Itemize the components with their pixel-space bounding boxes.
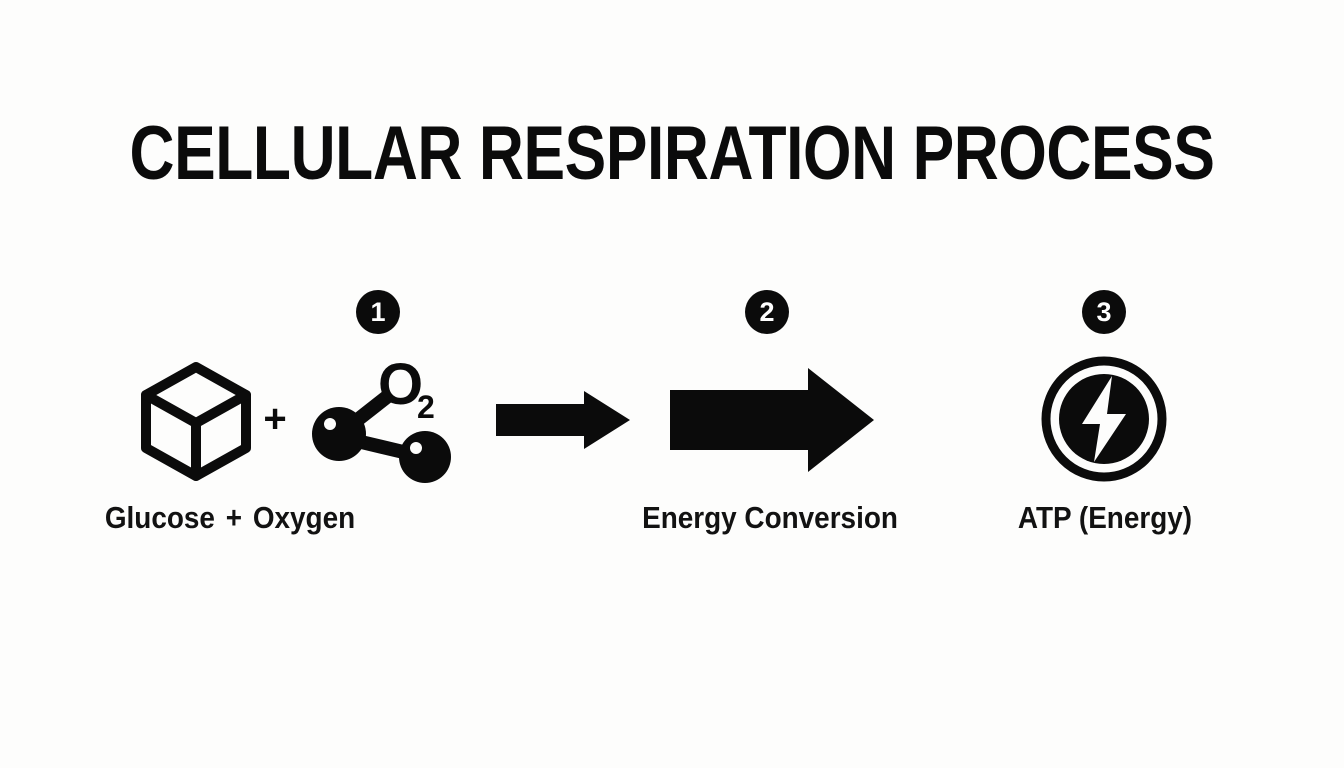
glucose-cube-icon	[138, 360, 254, 482]
step-3-caption: ATP (Energy)	[1002, 500, 1209, 536]
oxygen-molecule-icon: O 2	[304, 356, 454, 486]
svg-text:2: 2	[417, 389, 435, 425]
diagram-canvas: CELLULAR RESPIRATION PROCESS 1 +	[0, 0, 1344, 768]
caption-plus-sign: +	[215, 500, 253, 536]
step-2-caption: Energy Conversion	[590, 500, 950, 536]
process-flow: 1 + O	[0, 0, 1344, 768]
arrow-right-large-icon	[668, 366, 876, 474]
glucose-label: Glucose	[105, 500, 215, 535]
atp-lightning-bolt-icon	[1038, 356, 1170, 482]
step-1-caption: Glucose+Oxygen	[23, 500, 437, 536]
step-badge-2: 2	[745, 290, 789, 334]
step-badge-3: 3	[1082, 290, 1126, 334]
oxygen-label: Oxygen	[253, 500, 355, 535]
step-badge-1: 1	[356, 290, 400, 334]
plus-sign-icon: +	[260, 404, 290, 434]
arrow-right-small-icon	[494, 390, 632, 450]
